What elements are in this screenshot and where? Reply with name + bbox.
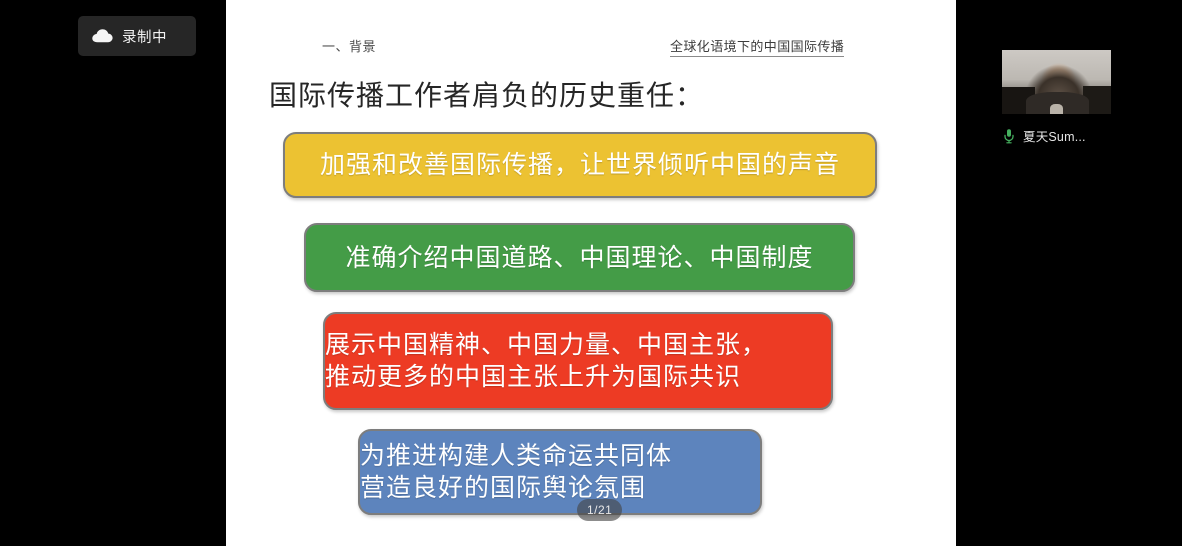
- recording-label: 录制中: [122, 26, 167, 47]
- slide-page-indicator: 1/21: [577, 499, 622, 521]
- presentation-slide: 一、背景 全球化语境下的中国国际传播 国际传播工作者肩负的历史重任： 加强和改善…: [226, 0, 956, 546]
- slide-header: 一、背景 全球化语境下的中国国际传播: [226, 36, 956, 58]
- recording-badge[interactable]: 录制中: [78, 16, 196, 56]
- callout-box-green: 准确介绍中国道路、中国理论、中国制度: [304, 223, 855, 292]
- cloud-icon: [92, 29, 113, 43]
- microphone-icon: [1002, 128, 1016, 144]
- slide-section-label: 一、背景: [322, 36, 376, 55]
- participant-name-label: 夏天Sum...: [1023, 126, 1086, 145]
- shared-screen-stage[interactable]: 一、背景 全球化语境下的中国国际传播 国际传播工作者肩负的历史重任： 加强和改善…: [226, 0, 956, 546]
- callout-box-red: 展示中国精神、中国力量、中国主张， 推动更多的中国主张上升为国际共识: [323, 312, 833, 410]
- meeting-screen: 录制中 一、背景 全球化语境下的中国国际传播 国际传播工作者肩负的历史重任： 加…: [0, 0, 1182, 546]
- participant-name-row: 夏天Sum...: [1002, 126, 1086, 145]
- callout-box-blue: 为推进构建人类命运共同体 营造良好的国际舆论氛围: [358, 429, 762, 515]
- callout-line: 推动更多的中国主张上升为国际共识: [325, 361, 831, 393]
- participant-video-tile[interactable]: [1002, 50, 1111, 114]
- slide-topic-label: 全球化语境下的中国国际传播: [670, 36, 844, 57]
- callout-box-yellow: 加强和改善国际传播，让世界倾听中国的声音: [283, 132, 877, 198]
- callout-line: 为推进构建人类命运共同体: [360, 440, 760, 472]
- video-person-collar: [1050, 104, 1063, 114]
- participant-strip: 夏天Sum...: [956, 0, 1182, 546]
- callout-line: 营造良好的国际舆论氛围: [360, 472, 760, 504]
- callout-line: 展示中国精神、中国力量、中国主张，: [325, 329, 831, 361]
- slide-title: 国际传播工作者肩负的历史重任：: [269, 74, 704, 114]
- callout-line: 准确介绍中国道路、中国理论、中国制度: [345, 242, 813, 274]
- participant-video-frame: [1002, 50, 1111, 114]
- callout-line: 加强和改善国际传播，让世界倾听中国的声音: [320, 149, 840, 181]
